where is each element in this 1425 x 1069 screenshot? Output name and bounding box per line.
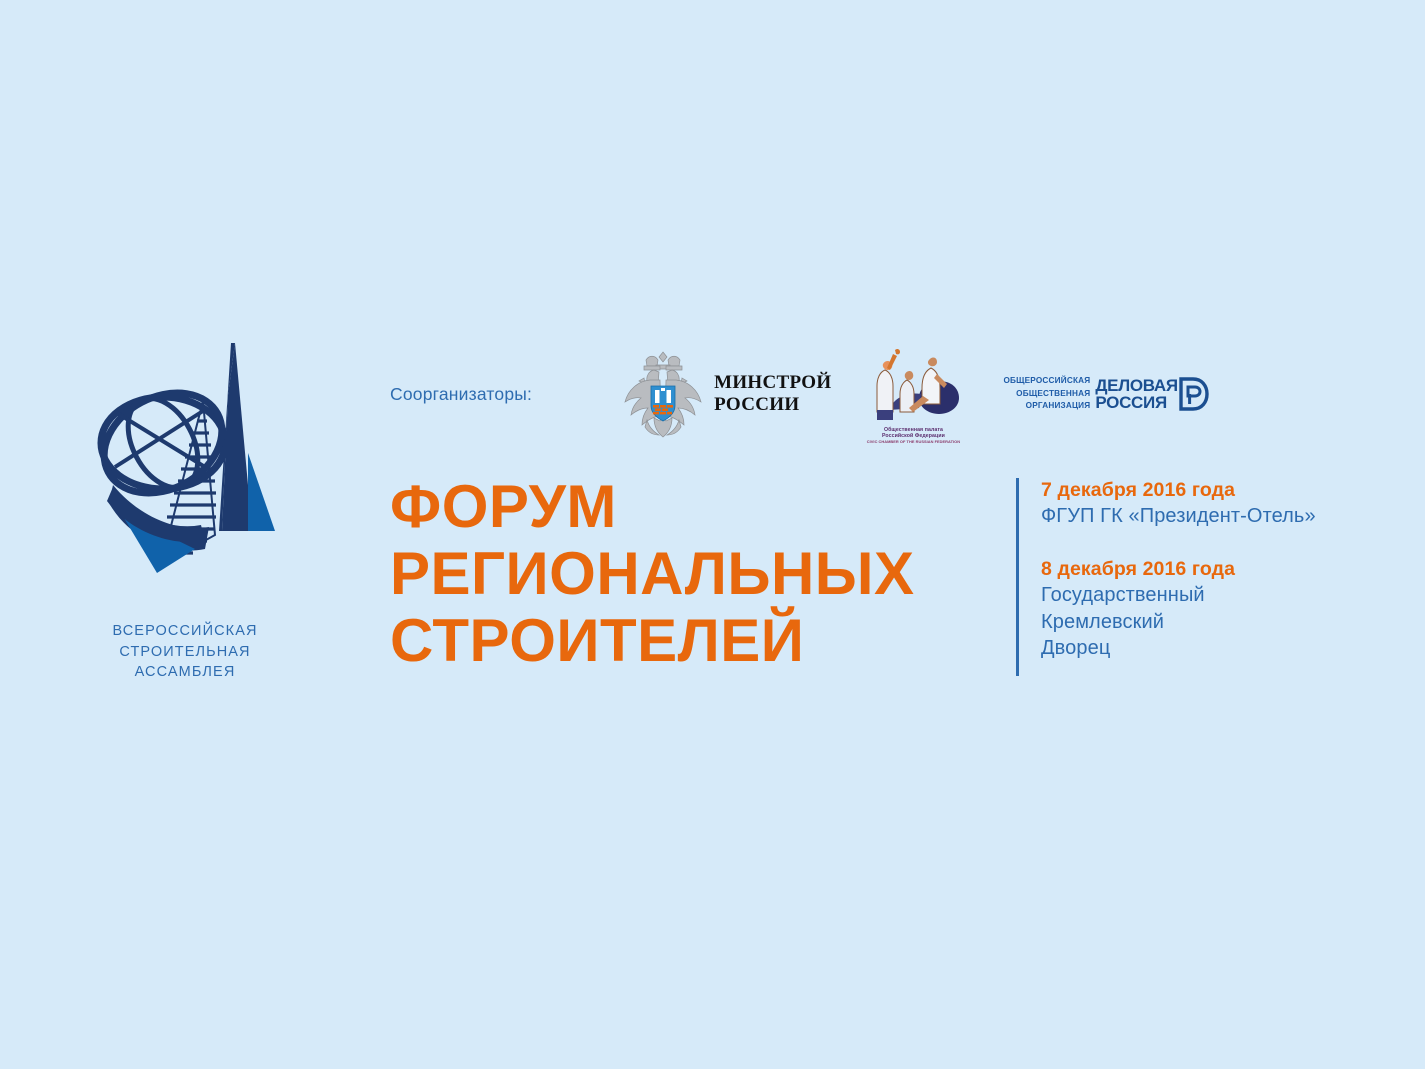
- delovaya-rossiya-wordmark: ДЕЛОВАЯ РОССИЯ: [1095, 377, 1208, 411]
- delros-name-line-1: ДЕЛОВАЯ: [1095, 377, 1177, 394]
- civic-caption-en: CIVIC CHAMBER OF THE RUSSIAN FEDERATION: [867, 440, 960, 445]
- minstroy-wordmark: МИНСТРОЙ РОССИИ: [714, 372, 831, 417]
- schedule-day-1-venue-line-1: ФГУП ГК «Президент-Отель»: [1041, 503, 1316, 529]
- delovaya-rossiya-logo: ОБЩЕРОССИЙСКАЯ ОБЩЕСТВЕННАЯ ОРГАНИЗАЦИЯ …: [1003, 375, 1208, 412]
- schedule-day-2-venue-line-3: Дворец: [1041, 635, 1316, 661]
- delros-name-line-2: РОССИЯ: [1095, 394, 1177, 411]
- schedule-day-1-date: 7 декабря 2016 года: [1041, 478, 1316, 503]
- civic-chamber-logo: Общественная палата Российской Федерации…: [859, 344, 967, 445]
- assembly-name-line-1: ВСЕРОССИЙСКАЯ: [112, 621, 257, 642]
- assembly-name-line-2: СТРОИТЕЛЬНАЯ: [112, 642, 257, 663]
- minstroy-line-2: РОССИИ: [714, 394, 831, 416]
- delros-words: ДЕЛОВАЯ РОССИЯ: [1095, 377, 1177, 411]
- delros-prefix-line-3: ОРГАНИЗАЦИЯ: [1003, 400, 1090, 412]
- assembly-logo: ВСЕРОССИЙСКАЯ СТРОИТЕЛЬНАЯ АССАМБЛЕЯ: [60, 335, 310, 683]
- delovaya-rossiya-prefix: ОБЩЕРОССИЙСКАЯ ОБЩЕСТВЕННАЯ ОРГАНИЗАЦИЯ: [1003, 375, 1090, 412]
- poster-canvas: ВСЕРОССИЙСКАЯ СТРОИТЕЛЬНАЯ АССАМБЛЕЯ Соо…: [0, 0, 1425, 1069]
- schedule-day-2-venue-line-1: Государственный: [1041, 582, 1316, 608]
- forum-title: ФОРУМ РЕГИОНАЛЬНЫХ СТРОИТЕЛЕЙ: [390, 473, 915, 675]
- delros-prefix-line-2: ОБЩЕСТВЕННАЯ: [1003, 388, 1090, 400]
- minstroy-logo: МИНСТРОЙ РОССИИ: [620, 348, 831, 440]
- civic-chamber-caption: Общественная палата Российской Федерации…: [867, 427, 960, 445]
- russian-double-headed-eagle-emblem: [620, 348, 706, 440]
- forum-title-line-1: ФОРУМ: [390, 473, 915, 540]
- schedule-panel: 7 декабря 2016 года ФГУП ГК «Президент-О…: [1016, 478, 1316, 676]
- assembly-globe-spire-mark: [85, 335, 285, 615]
- civic-chamber-figures-emblem: [861, 344, 965, 426]
- forum-title-line-3: СТРОИТЕЛЕЙ: [390, 607, 915, 674]
- minstroy-line-1: МИНСТРОЙ: [714, 372, 831, 394]
- delovaya-rossiya-d-mark: [1179, 377, 1209, 411]
- delros-prefix-line-1: ОБЩЕРОССИЙСКАЯ: [1003, 375, 1090, 387]
- schedule-day-2-date: 8 декабря 2016 года: [1041, 557, 1316, 582]
- coorganizers-row: Соорганизаторы:: [390, 338, 1209, 450]
- assembly-name-line-3: АССАМБЛЕЯ: [112, 662, 257, 683]
- schedule-day-2-venue-line-2: Кремлевский: [1041, 609, 1316, 635]
- forum-title-line-2: РЕГИОНАЛЬНЫХ: [390, 540, 915, 607]
- coorganizers-label: Соорганизаторы:: [390, 384, 542, 405]
- assembly-logo-name: ВСЕРОССИЙСКАЯ СТРОИТЕЛЬНАЯ АССАМБЛЕЯ: [112, 621, 257, 683]
- schedule-day-1: 7 декабря 2016 года ФГУП ГК «Президент-О…: [1041, 478, 1316, 529]
- schedule-day-2: 8 декабря 2016 года Государственный Крем…: [1041, 557, 1316, 661]
